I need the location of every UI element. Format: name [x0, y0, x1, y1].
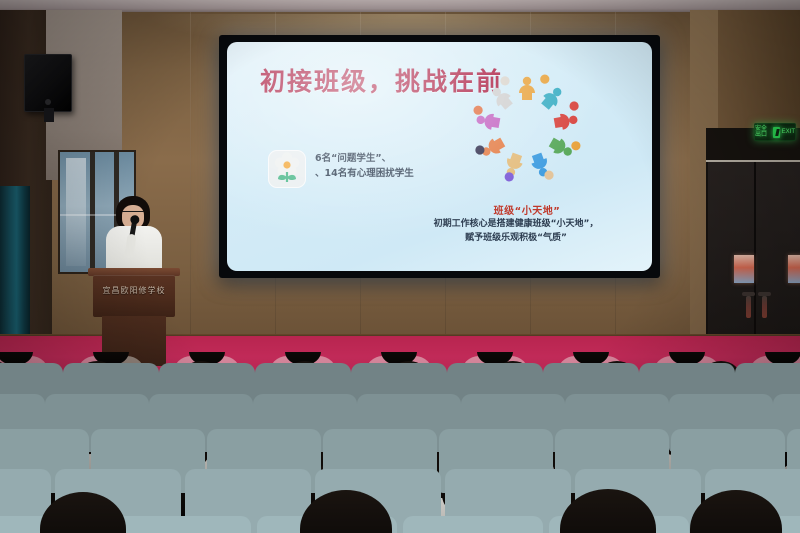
- podium-school-name: 宜昌欧阳修学校: [93, 285, 175, 296]
- audience-seating: [0, 352, 800, 533]
- window-mullion: [90, 152, 95, 272]
- podium-front-panel: [93, 275, 175, 317]
- figure-teal-upper-right: [539, 84, 566, 112]
- flower-icon: [268, 150, 306, 188]
- slide-sub-heading: 班级“小天地”: [432, 202, 622, 217]
- ring-accent-dot: [570, 101, 579, 110]
- figure-orange-top: [519, 77, 535, 100]
- door-vision-panel: [788, 255, 800, 283]
- led-screen-bezel: 初接班级，挑战在前 6名“问题学生”: [219, 35, 660, 278]
- audience-seat: [408, 521, 538, 533]
- slide-sub-body-line-2: 赋予班级乐观积极“气质”: [387, 232, 645, 246]
- audience-seat: [116, 521, 246, 533]
- figure-green-lower-right: [547, 135, 575, 160]
- slide-sub-body: 初期工作核心是搭建健康班级“小天地”， 赋予班级乐观积极“气质”: [387, 218, 645, 245]
- ring-accent-dot: [474, 106, 483, 115]
- slide-bullet-1: 6名“问题学生”、: [315, 152, 465, 167]
- door-handle[interactable]: [762, 296, 767, 318]
- ring-accent-dot: [505, 172, 514, 181]
- wall-seam: [190, 12, 191, 342]
- auditorium-photo: 安全出口 EXIT 初接班级，挑战在前: [0, 0, 800, 533]
- ring-accent-dot: [571, 141, 580, 150]
- ring-accent-dot: [500, 76, 509, 85]
- exit-sign-chinese-label: 安全出口: [755, 126, 771, 138]
- figure-red-right: [553, 111, 579, 131]
- slide-bullet-2: 、14名有心理困扰学生: [315, 167, 465, 182]
- people-circle-graphic: [465, 72, 590, 184]
- door-vision-panel: [734, 255, 754, 283]
- wall-speaker: [24, 54, 72, 112]
- ring-accent-dot: [540, 75, 549, 84]
- ring-accent-dot: [475, 145, 484, 154]
- slide-bullets: 6名“问题学生”、 、14名有心理困扰学生: [315, 152, 465, 181]
- figure-grey-top-left: [488, 84, 515, 112]
- wall-speaker-bracket: [44, 108, 54, 122]
- presentation-slide: 初接班级，挑战在前 6名“问题学生”: [227, 42, 652, 271]
- window-glare: [66, 158, 86, 266]
- exit-sign-english-label: EXIT: [782, 129, 795, 135]
- door-handle[interactable]: [746, 296, 751, 318]
- emergency-exit-sign: 安全出口 EXIT: [754, 123, 796, 141]
- running-person-icon: [773, 127, 780, 138]
- ring-accent-dot: [544, 171, 553, 180]
- slide-sub-body-line-1: 初期工作核心是搭建健康班级“小天地”，: [387, 218, 645, 232]
